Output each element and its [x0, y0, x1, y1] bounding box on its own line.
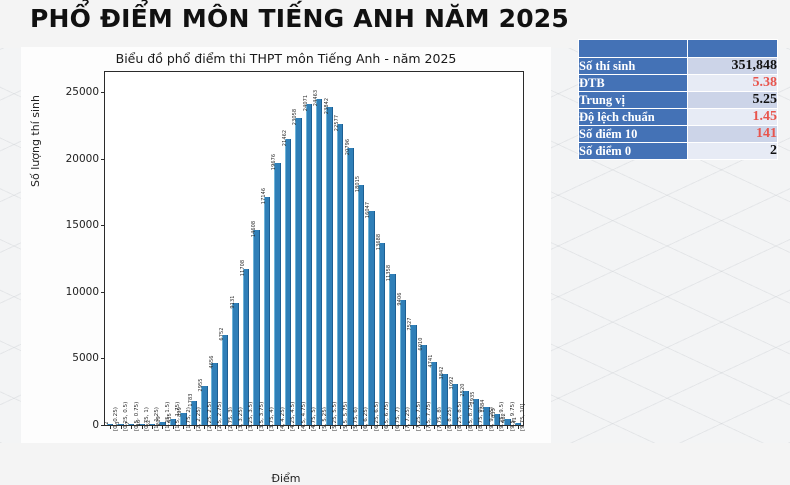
y-axis-label: Số lượng thí sinh	[29, 95, 42, 187]
x-axis-tick-mark	[162, 425, 163, 429]
y-axis-tick-mark	[101, 292, 105, 293]
x-axis-tick-label: [0, 0.25)	[113, 407, 119, 431]
x-axis-tick-mark	[246, 425, 247, 429]
chart-title: Biểu đồ phổ điểm thi THPT môn Tiếng Anh …	[21, 51, 551, 66]
x-axis-tick-label: [0.5, 0.75)	[134, 402, 140, 431]
x-axis-tick-mark	[194, 425, 195, 429]
x-axis-tick-label: [0.25, 0.5)	[123, 402, 129, 431]
x-axis-tick-mark	[330, 425, 331, 429]
bar-value-label: 13688	[376, 233, 382, 249]
y-axis-tick-mark	[101, 358, 105, 359]
table-row: Số thí sinh351,848	[579, 58, 778, 75]
x-axis-tick-mark	[403, 425, 404, 429]
bar[interactable]: 23058	[295, 118, 301, 425]
x-axis-tick-mark	[497, 425, 498, 429]
bar[interactable]: 11358	[389, 274, 395, 425]
bar-value-label: 9131	[230, 296, 236, 309]
stat-value: 141	[688, 126, 778, 143]
bar-value-label: 14608	[251, 221, 257, 237]
bar-value-label: 21462	[282, 130, 288, 146]
x-axis-tick-mark	[110, 425, 111, 429]
x-axis-tick-mark	[361, 425, 362, 429]
bar[interactable]: 22577	[337, 124, 343, 425]
stat-label: Độ lệch chuẩn	[579, 109, 688, 126]
x-axis-tick-mark	[392, 425, 393, 429]
y-axis-tick-label: 15000	[66, 219, 99, 231]
x-axis-tick-mark	[413, 425, 414, 429]
y-axis-tick-mark	[101, 159, 105, 160]
bar-value-label: 18015	[355, 176, 361, 192]
x-axis-tick-mark	[183, 425, 184, 429]
stat-label: ĐTB	[579, 75, 688, 92]
bar[interactable]: 20796	[347, 148, 353, 425]
bar-value-label: 1783	[188, 394, 194, 407]
bar-value-label: 6010	[418, 337, 424, 350]
bar-value-label: 23842	[324, 98, 330, 114]
stat-label: Số điểm 10	[579, 126, 688, 143]
bar-value-label: 2520	[460, 384, 466, 397]
bar[interactable]: 24071	[306, 104, 312, 425]
bar-value-label: 9406	[397, 292, 403, 305]
bar[interactable]: 24463	[316, 99, 322, 425]
bar-value-label: 7527	[407, 317, 413, 330]
x-axis-tick-mark	[507, 425, 508, 429]
chart-panel: Biểu đồ phổ điểm thi THPT môn Tiếng Anh …	[21, 47, 551, 443]
x-axis-tick-mark	[371, 425, 372, 429]
x-axis-tick-mark	[236, 425, 237, 429]
stat-value: 5.25	[688, 92, 778, 109]
x-axis-tick-mark	[225, 425, 226, 429]
x-axis-tick-mark	[518, 425, 519, 429]
x-axis-tick-mark	[445, 425, 446, 429]
x-axis-tick-mark	[215, 425, 216, 429]
bar-value-label: 11708	[240, 260, 246, 276]
y-axis-tick-label: 20000	[66, 153, 99, 165]
bar-value-label: 1935	[470, 392, 476, 405]
x-axis-tick-mark	[131, 425, 132, 429]
x-axis-tick-mark	[340, 425, 341, 429]
x-axis-tick-mark	[486, 425, 487, 429]
bar-value-label: 23058	[292, 109, 298, 125]
bar-value-label: 16047	[365, 202, 371, 218]
bar[interactable]: 23842	[326, 107, 332, 425]
x-axis-tick-mark	[319, 425, 320, 429]
bar-value-label: 462	[501, 413, 507, 423]
bar-value-label: 2955	[198, 378, 204, 391]
bar-value-label: 6752	[219, 328, 225, 341]
bar-value-label: 19676	[271, 154, 277, 170]
x-axis-tick-mark	[298, 425, 299, 429]
plot-inner: 05000100001500020000250002[0, 0.25)3[0.2…	[105, 72, 523, 425]
stat-label: Trung vị	[579, 92, 688, 109]
bar-value-label: 899	[177, 407, 183, 417]
stat-label: Số điểm 0	[579, 143, 688, 160]
x-axis-tick-mark	[424, 425, 425, 429]
x-axis-tick-mark	[309, 425, 310, 429]
bar[interactable]: 13688	[379, 243, 385, 425]
x-axis-tick-mark	[121, 425, 122, 429]
x-axis-tick-mark	[466, 425, 467, 429]
bar[interactable]: 19676	[274, 163, 280, 425]
page-title: PHỔ ĐIỂM MÔN TIẾNG ANH NĂM 2025	[30, 4, 569, 33]
x-axis-tick-mark	[455, 425, 456, 429]
y-axis-tick-mark	[101, 225, 105, 226]
x-axis-tick-mark	[204, 425, 205, 429]
bar[interactable]: 21462	[285, 139, 291, 425]
bar-value-label: 3842	[439, 366, 445, 379]
y-axis-tick-label: 5000	[72, 352, 99, 364]
bar-value-label: 4741	[428, 354, 434, 367]
x-axis-tick-mark	[277, 425, 278, 429]
table-header-label-cell	[579, 40, 688, 58]
stat-value: 1.45	[688, 109, 778, 126]
stat-label: Số thí sinh	[579, 58, 688, 75]
x-axis-tick-label: [9.75, 10]	[520, 404, 526, 432]
y-axis-tick-label: 0	[92, 419, 99, 431]
bar-value-label: 4656	[209, 355, 215, 368]
y-axis-tick-mark	[101, 425, 105, 426]
bar-value-label: 24071	[303, 95, 309, 111]
y-axis-tick-label: 25000	[66, 86, 99, 98]
stat-value: 2	[688, 143, 778, 160]
x-axis-tick-mark	[173, 425, 174, 429]
x-axis-tick-mark	[152, 425, 153, 429]
bar-value-label: 20796	[345, 139, 351, 155]
stats-table-body: Số thí sinh351,848ĐTB5.38Trung vị5.25Độ …	[579, 40, 778, 160]
y-axis-tick-mark	[101, 92, 105, 93]
plot-area: 05000100001500020000250002[0, 0.25)3[0.2…	[104, 71, 524, 426]
stats-table: Số thí sinh351,848ĐTB5.38Trung vị5.25Độ …	[578, 39, 778, 160]
table-row: ĐTB5.38	[579, 75, 778, 92]
y-axis-tick-label: 10000	[66, 286, 99, 298]
bar-value-label: 17146	[261, 187, 267, 203]
table-row: Số điểm 10141	[579, 126, 778, 143]
bar-value-label: 24463	[313, 90, 319, 106]
stat-value: 351,848	[688, 58, 778, 75]
x-axis-tick-mark	[434, 425, 435, 429]
bar-value-label: 22577	[334, 115, 340, 131]
bar-value-label: 833	[491, 408, 497, 418]
table-header-value-cell	[688, 40, 778, 58]
stat-value: 5.38	[688, 75, 778, 92]
bar[interactable]: 18015	[358, 185, 364, 425]
x-axis-tick-mark	[267, 425, 268, 429]
x-axis-label: Điểm	[21, 472, 551, 485]
bar-value-label: 455	[167, 413, 173, 423]
bar-value-label: 11358	[386, 265, 392, 281]
x-axis-tick-mark	[382, 425, 383, 429]
bar[interactable]: 17146	[264, 197, 270, 425]
bar-value-label: 3092	[449, 376, 455, 389]
bar[interactable]: 16047	[368, 211, 374, 425]
table-row: Trung vị5.25	[579, 92, 778, 109]
bar[interactable]: 14608	[253, 230, 259, 425]
table-row: Số điểm 02	[579, 143, 778, 160]
x-axis-tick-mark	[476, 425, 477, 429]
x-axis-tick-mark	[257, 425, 258, 429]
table-header-row	[579, 40, 778, 58]
x-axis-tick-mark	[288, 425, 289, 429]
x-axis-tick-mark	[351, 425, 352, 429]
table-row: Độ lệch chuẩn1.45	[579, 109, 778, 126]
bar-value-label: 1384	[480, 399, 486, 412]
x-axis-tick-mark	[142, 425, 143, 429]
